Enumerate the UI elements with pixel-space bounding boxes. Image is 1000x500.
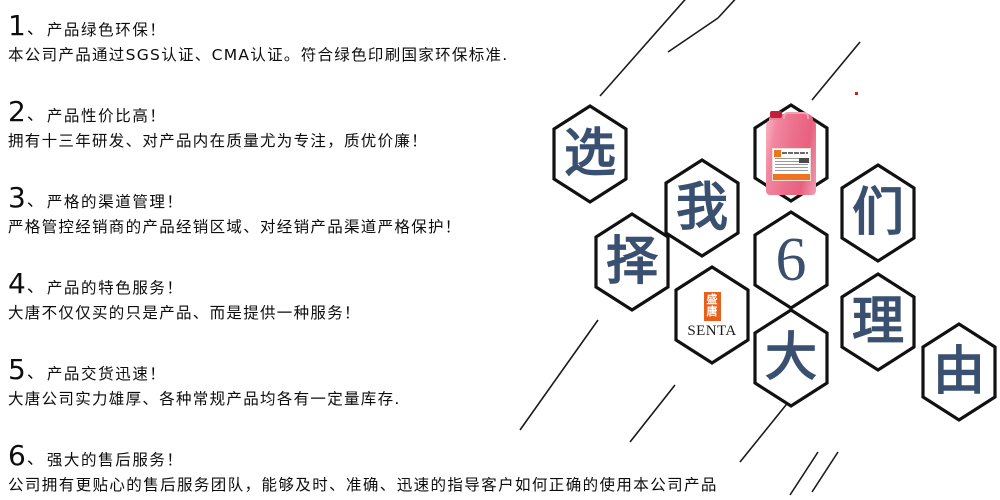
logo-seal-char: 盛: [707, 294, 718, 306]
hexagon-label: 由: [921, 322, 997, 422]
logo-seal-mark: 盛唐: [704, 292, 721, 321]
can-label-header: [773, 149, 810, 157]
hex-wo: 我: [664, 158, 740, 258]
can-label: [772, 148, 811, 181]
can-label-logo-square: [774, 150, 781, 157]
can-handle: [783, 112, 809, 119]
hexagon-label: 择: [594, 212, 670, 312]
can-label-badge: [799, 158, 809, 163]
hex-six: 6: [753, 210, 829, 310]
hex-xuan: 选: [552, 104, 628, 204]
can-label-footer-bar: [773, 174, 810, 180]
hex-logo: 盛唐SENTA: [674, 265, 750, 365]
promo-banner: 1、产品绿色环保！本公司产品通过SGS认证、CMA认证。符合绿色印刷国家环保标准…: [0, 0, 1000, 500]
hexagon-label: 理: [840, 272, 916, 372]
hexagon-label: 我: [664, 158, 740, 258]
can-label-title-text: [782, 152, 808, 154]
product-jerrycan-image: [765, 111, 817, 195]
hexagon-label: 6: [753, 210, 829, 310]
hex-men: 们: [840, 163, 916, 263]
logo-seal-char: 唐: [707, 306, 718, 318]
brand-logo: 盛唐SENTA: [674, 265, 750, 365]
hexagon-label: 大: [753, 308, 829, 408]
hexagon-label: 们: [840, 163, 916, 263]
red-dot-accent: [855, 92, 858, 95]
hex-da: 大: [753, 308, 829, 408]
hex-li: 理: [840, 272, 916, 372]
hex-product: [753, 103, 829, 203]
hex-ze: 择: [594, 212, 670, 312]
hexagon-label: 选: [552, 104, 628, 204]
can-body: [766, 120, 816, 195]
hex-you: 由: [921, 322, 997, 422]
logo-wordmark: SENTA: [687, 323, 736, 339]
hexagon-cluster: 选择我盛唐SENTA6们大理由: [0, 0, 1000, 500]
can-cap: [770, 111, 782, 118]
